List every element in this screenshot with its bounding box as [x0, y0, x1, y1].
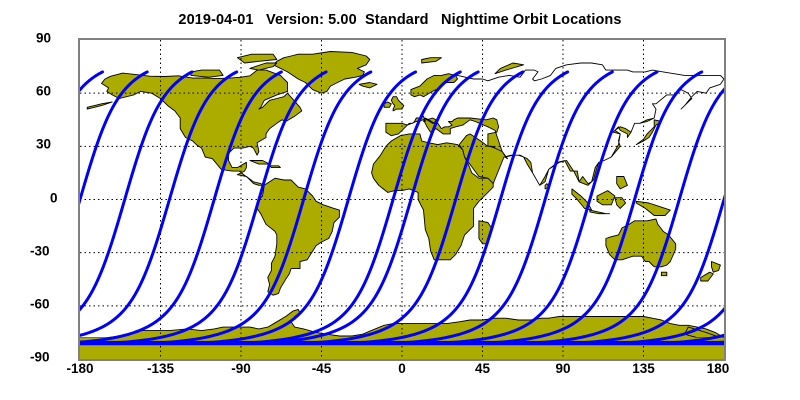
ytick-label-60: 60: [36, 84, 51, 99]
xtick-label-90: 90: [555, 361, 570, 376]
xtick-label-0: 0: [398, 361, 406, 376]
xtick-label-neg45: -45: [312, 361, 332, 376]
world-map-with-orbit-tracks: [80, 40, 724, 359]
xtick-label-neg135: -135: [147, 361, 174, 376]
xtick-label-neg180: -180: [66, 361, 93, 376]
plot-area: [80, 40, 724, 359]
ytick-label-30: 30: [36, 137, 51, 152]
xtick-label-45: 45: [475, 361, 490, 376]
ytick-label-0: 0: [50, 190, 58, 205]
landmass-victoria: [191, 70, 223, 77]
ytick-label-neg90: -90: [30, 350, 50, 365]
ytick-label-neg30: -30: [30, 243, 50, 258]
landmass-tasmania: [661, 272, 666, 276]
page-title: 2019-04-01 Version: 5.00 Standard Nightt…: [0, 12, 800, 28]
xtick-label-135: 135: [632, 361, 655, 376]
orbit-map-figure: 2019-04-01 Version: 5.00 Standard Nightt…: [0, 0, 800, 400]
landmass-hispaniola: [270, 166, 281, 168]
ytick-label-neg60: -60: [30, 296, 50, 311]
plot-frame: [78, 38, 726, 361]
xtick-label-180: 180: [707, 361, 730, 376]
xtick-label-neg90: -90: [231, 361, 251, 376]
ytick-label-90: 90: [36, 31, 51, 46]
